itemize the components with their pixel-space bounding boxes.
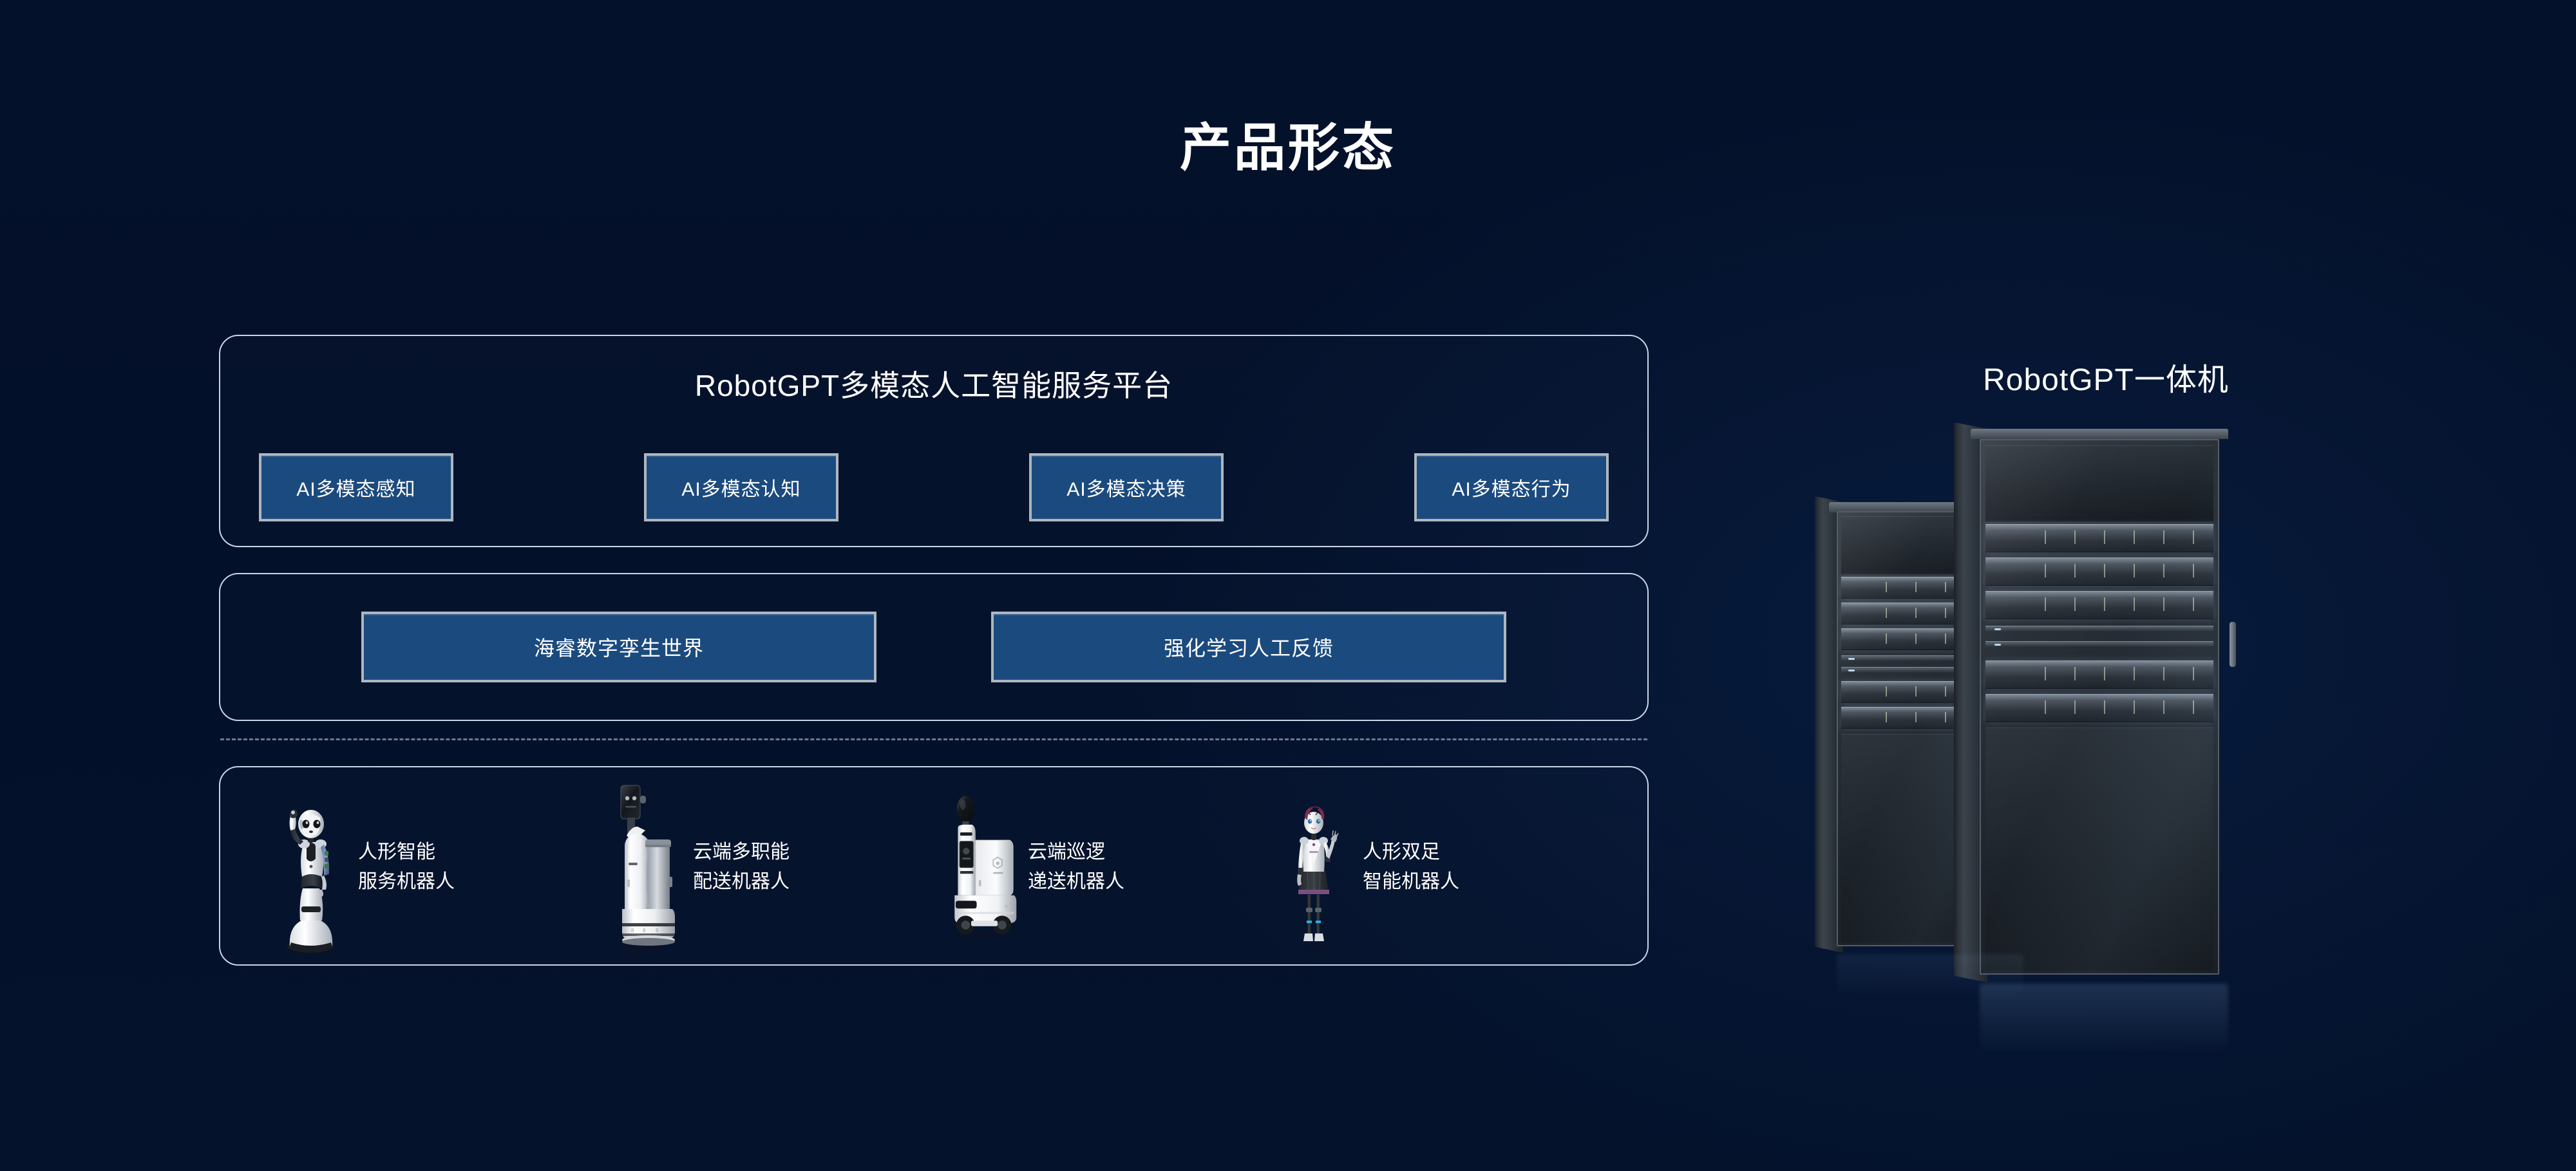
robot-row: 人形智能 服务机器人 — [270, 767, 1597, 967]
capability-chip-label: AI多模态认知 — [681, 473, 800, 501]
robot-item-cloud-delivery[interactable]: 8 8 8 云端多职能 配送机器人 — [605, 780, 927, 954]
robot-label: 人形双足 智能机器人 — [1363, 838, 1459, 897]
engine-box-digital-twin[interactable]: 海睿数字孪生世界 — [361, 612, 876, 682]
capability-chip-row: AI多模态感知 AI多模态认知 AI多模态决策 AI多模态行为 — [259, 453, 1609, 521]
svg-text:8: 8 — [631, 928, 634, 933]
robot-item-humanoid-service[interactable]: 人形智能 服务机器人 — [270, 780, 592, 954]
engine-box-rlhf[interactable]: 强化学习人工反馈 — [991, 612, 1506, 682]
server-section-title: RobotGPT一体机 — [1816, 354, 2396, 399]
robot-label-line2: 智能机器人 — [1363, 867, 1459, 897]
slide-root: 产品形态 RobotGPT多模态人工智能服务平台 AI多模态感知 AI多模态认知… — [0, 0, 2576, 1171]
robots-panel: 人形智能 服务机器人 — [219, 766, 1649, 966]
robot-label-line2: 配送机器人 — [693, 867, 790, 897]
server-rack-primary — [1971, 429, 2228, 982]
platform-panel: RobotGPT多模态人工智能服务平台 AI多模态感知 AI多模态认知 AI多模… — [219, 335, 1649, 547]
robot-label-line2: 递送机器人 — [1028, 867, 1124, 897]
capability-chip-cognition[interactable]: AI多模态认知 — [644, 453, 838, 521]
robot-label: 云端巡逻 递送机器人 — [1028, 838, 1124, 897]
platform-panel-title: RobotGPT多模态人工智能服务平台 — [220, 371, 1647, 400]
robot-label-line1: 云端多职能 — [693, 838, 790, 868]
capability-chip-label: AI多模态决策 — [1066, 473, 1186, 501]
capability-chip-label: AI多模态感知 — [296, 473, 415, 501]
rack-handle — [2230, 622, 2236, 667]
server-column: RobotGPT一体机 — [1816, 335, 2396, 1069]
cloud-delivery-robot-icon: 8 8 8 — [605, 780, 683, 954]
engine-box-row: 海睿数字孪生世界 强化学习人工反馈 — [220, 612, 1647, 682]
humanoid-service-robot-icon — [270, 780, 348, 954]
capability-chip-label: AI多模态行为 — [1452, 473, 1571, 501]
robot-label: 云端多职能 配送机器人 — [693, 838, 790, 897]
engine-box-label: 强化学习人工反馈 — [1164, 632, 1334, 662]
cloud-patrol-robot-icon — [940, 780, 1018, 954]
robot-label-line1: 人形智能 — [358, 838, 455, 868]
robot-label-line1: 人形双足 — [1363, 838, 1459, 868]
capability-chip-behavior[interactable]: AI多模态行为 — [1414, 453, 1609, 521]
robot-label: 人形智能 服务机器人 — [358, 838, 455, 897]
svg-text:8: 8 — [656, 928, 659, 933]
capability-chip-perception[interactable]: AI多模态感知 — [259, 453, 453, 521]
server-rack-icon — [1816, 425, 2396, 1069]
engine-panel: 海睿数字孪生世界 强化学习人工反馈 — [219, 573, 1649, 721]
capability-chip-decision[interactable]: AI多模态决策 — [1029, 453, 1224, 521]
humanoid-biped-robot-icon — [1275, 780, 1352, 954]
architecture-column: RobotGPT多模态人工智能服务平台 AI多模态感知 AI多模态认知 AI多模… — [219, 335, 1649, 966]
section-divider — [220, 738, 1647, 740]
engine-box-label: 海睿数字孪生世界 — [534, 632, 704, 662]
rack-reflection-primary — [1980, 984, 2228, 1054]
robot-label-line2: 服务机器人 — [358, 867, 455, 897]
robot-item-humanoid-biped[interactable]: 人形双足 智能机器人 — [1275, 780, 1597, 954]
svg-text:8: 8 — [643, 928, 646, 933]
page-title: 产品形态 — [0, 122, 2576, 174]
robot-item-cloud-patrol[interactable]: 云端巡逻 递送机器人 — [940, 780, 1262, 954]
robot-label-line1: 云端巡逻 — [1028, 838, 1124, 868]
